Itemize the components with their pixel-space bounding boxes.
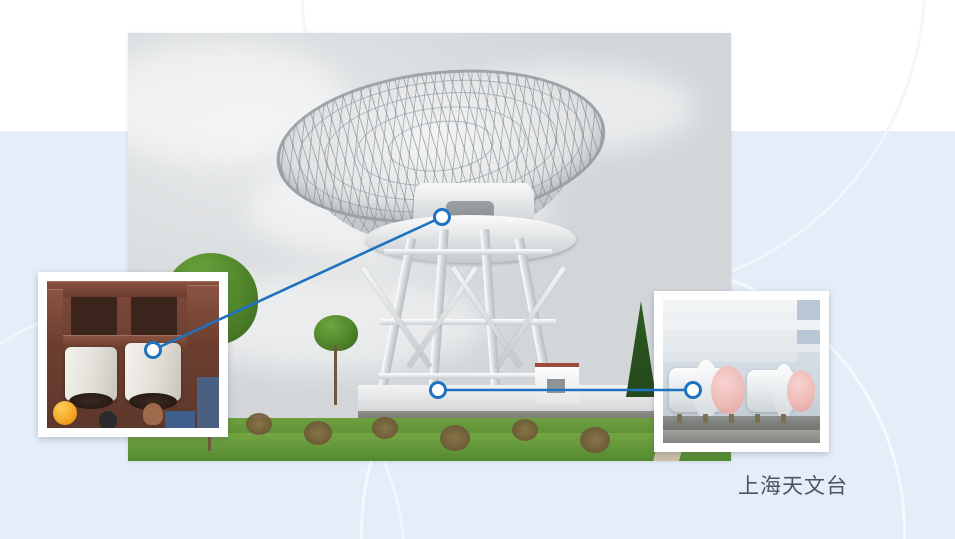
shrub: [440, 425, 470, 451]
elevation-drive-inset: [654, 291, 829, 452]
worker-head: [143, 403, 163, 425]
shrub: [304, 421, 332, 445]
anchor-bolt: [677, 414, 682, 423]
anchor-bolt: [703, 414, 708, 423]
shrub: [580, 427, 610, 453]
photo-caption: 上海天文台: [738, 470, 848, 500]
worker-head: [99, 411, 117, 428]
wall-rail: [663, 344, 820, 352]
shrub: [512, 419, 538, 441]
pink-end-face: [711, 366, 745, 414]
steel-beam: [47, 289, 63, 349]
tower-crossbeam: [378, 373, 558, 379]
azimuth-drive-image: [47, 281, 219, 428]
slide-canvas: 上海天文台: [0, 0, 955, 539]
anchor-bolt: [781, 414, 786, 423]
tower-crossbeam: [384, 249, 552, 255]
anchor-bolt: [755, 414, 760, 423]
support-tower: [378, 223, 558, 398]
worker-clothing: [197, 377, 219, 428]
steel-beam: [187, 285, 219, 349]
pink-end-face: [787, 370, 815, 412]
anchor-bolt: [729, 414, 734, 423]
worker-clothing: [165, 411, 195, 428]
azimuth-drive-inset: [38, 272, 228, 437]
orange-safety-helmet: [53, 401, 77, 425]
wall-rail: [663, 320, 820, 330]
shadow-recess: [71, 297, 117, 339]
white-support-wall: [663, 300, 797, 362]
elevation-drive-image: [663, 300, 820, 443]
control-hut: [535, 363, 579, 403]
tree-trunk: [334, 345, 337, 405]
shrub: [372, 417, 398, 439]
concrete-plinth: [663, 430, 820, 443]
shrub: [246, 413, 272, 435]
hut-window: [547, 379, 565, 393]
shadow-recess: [131, 297, 177, 339]
